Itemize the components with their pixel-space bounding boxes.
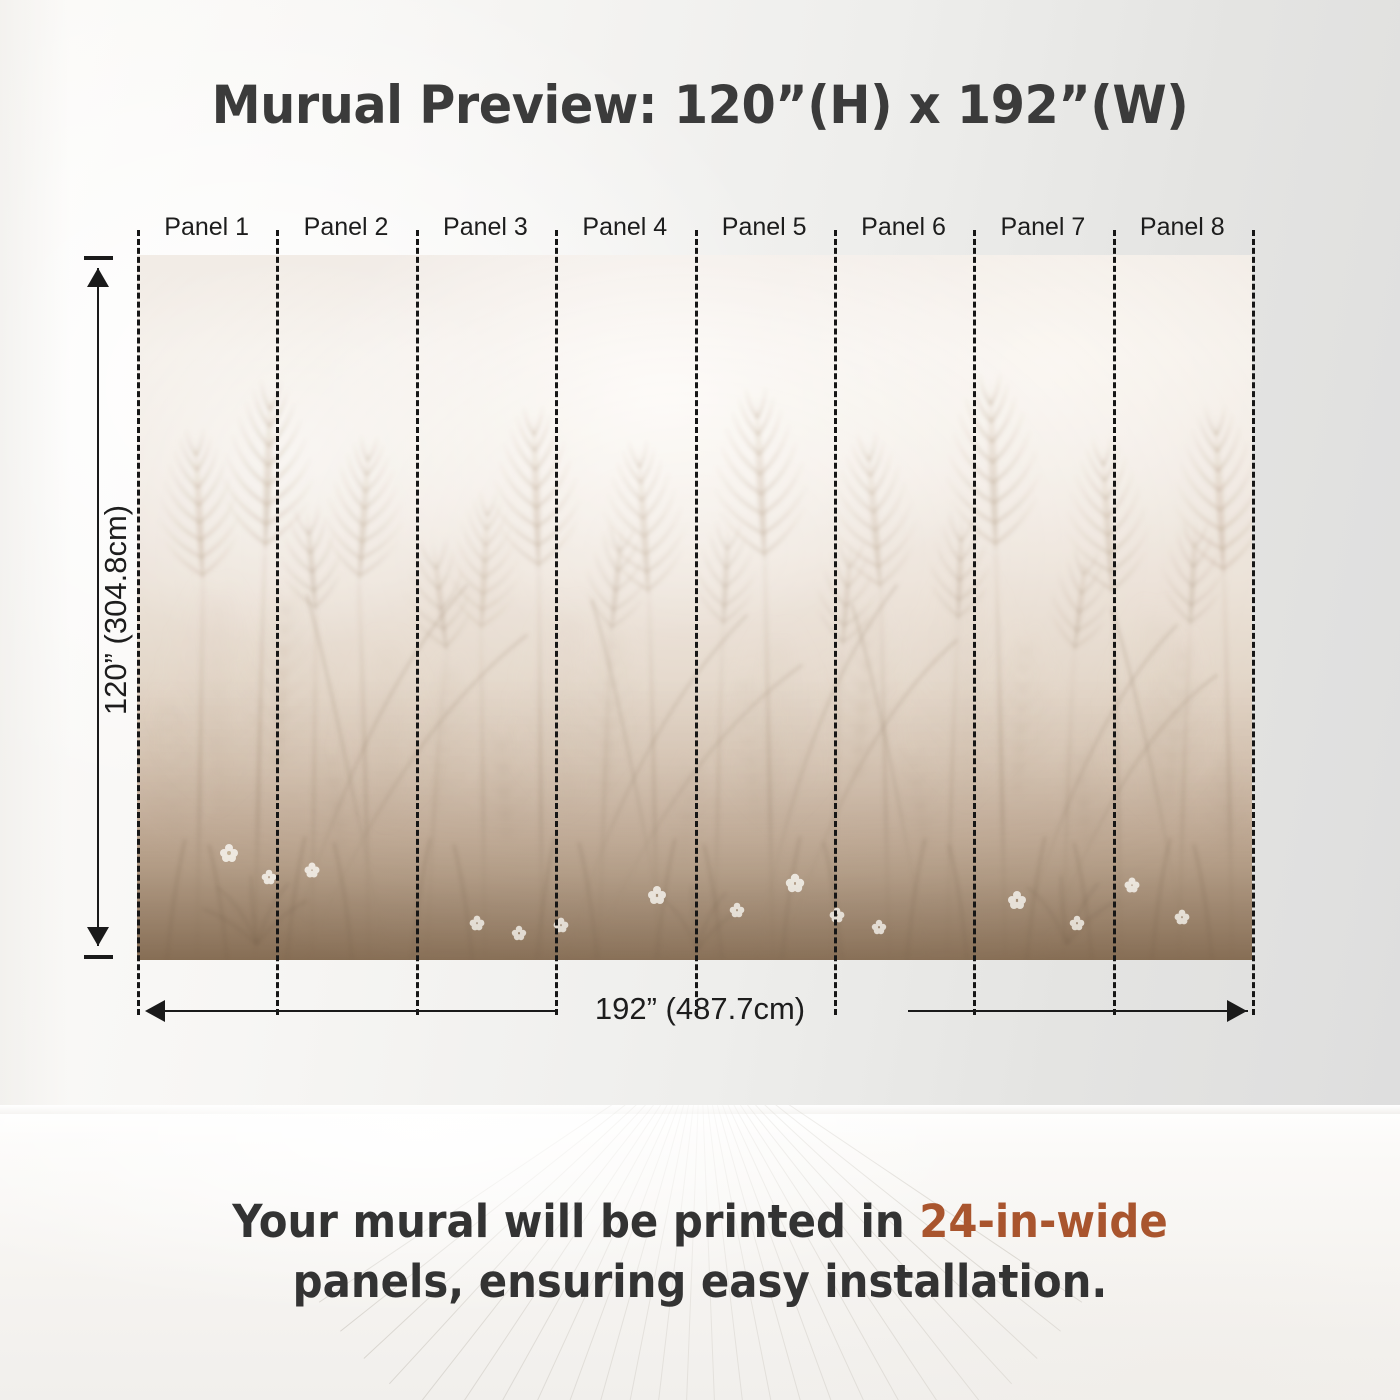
panel-divider-7 bbox=[1113, 230, 1116, 1015]
panel-label-2: Panel 2 bbox=[276, 213, 415, 242]
caption-line-1: Your mural will be printed in 24-in-wide bbox=[49, 1192, 1351, 1252]
panel-label-1: Panel 1 bbox=[137, 213, 276, 242]
panel-divider-8 bbox=[1252, 230, 1255, 1015]
caption-highlight: 24-in-wide bbox=[919, 1195, 1167, 1248]
caption-line-1-text: Your mural will be printed in bbox=[232, 1195, 919, 1248]
mural-preview-page: Murual Preview: 120”(H) x 192”(W) bbox=[0, 0, 1400, 1400]
floor-baseboard bbox=[0, 1105, 1400, 1114]
height-cap-bottom bbox=[84, 955, 113, 959]
caption-line-2: panels, ensuring easy installation. bbox=[49, 1252, 1351, 1312]
height-arrow-down-icon bbox=[87, 927, 109, 946]
panel-label-8: Panel 8 bbox=[1113, 213, 1252, 242]
panel-divider-3 bbox=[555, 230, 558, 1015]
width-arrow-right-icon bbox=[1227, 1000, 1247, 1022]
panel-divider-6 bbox=[973, 230, 976, 1015]
panel-label-4: Panel 4 bbox=[555, 213, 694, 242]
panel-divider-0 bbox=[137, 230, 140, 1015]
page-title: Murual Preview: 120”(H) x 192”(W) bbox=[49, 75, 1351, 136]
width-dimension-label: 192” (487.7cm) bbox=[560, 991, 840, 1027]
height-dimension-label: 120” (304.8cm) bbox=[98, 330, 134, 890]
panel-divider-1 bbox=[276, 230, 279, 1015]
height-cap-top bbox=[84, 256, 113, 260]
panel-divider-4 bbox=[695, 230, 698, 1015]
panel-label-7: Panel 7 bbox=[973, 213, 1112, 242]
width-dimension-line-left bbox=[155, 1010, 555, 1012]
panel-label-3: Panel 3 bbox=[416, 213, 555, 242]
panel-divider-5 bbox=[834, 230, 837, 1015]
print-info-caption: Your mural will be printed in 24-in-wide… bbox=[49, 1192, 1351, 1312]
wall-left-shadow bbox=[0, 0, 70, 1105]
panel-label-5: Panel 5 bbox=[695, 213, 834, 242]
width-dimension-line-right bbox=[908, 1010, 1248, 1012]
panel-label-6: Panel 6 bbox=[834, 213, 973, 242]
panel-divider-2 bbox=[416, 230, 419, 1015]
